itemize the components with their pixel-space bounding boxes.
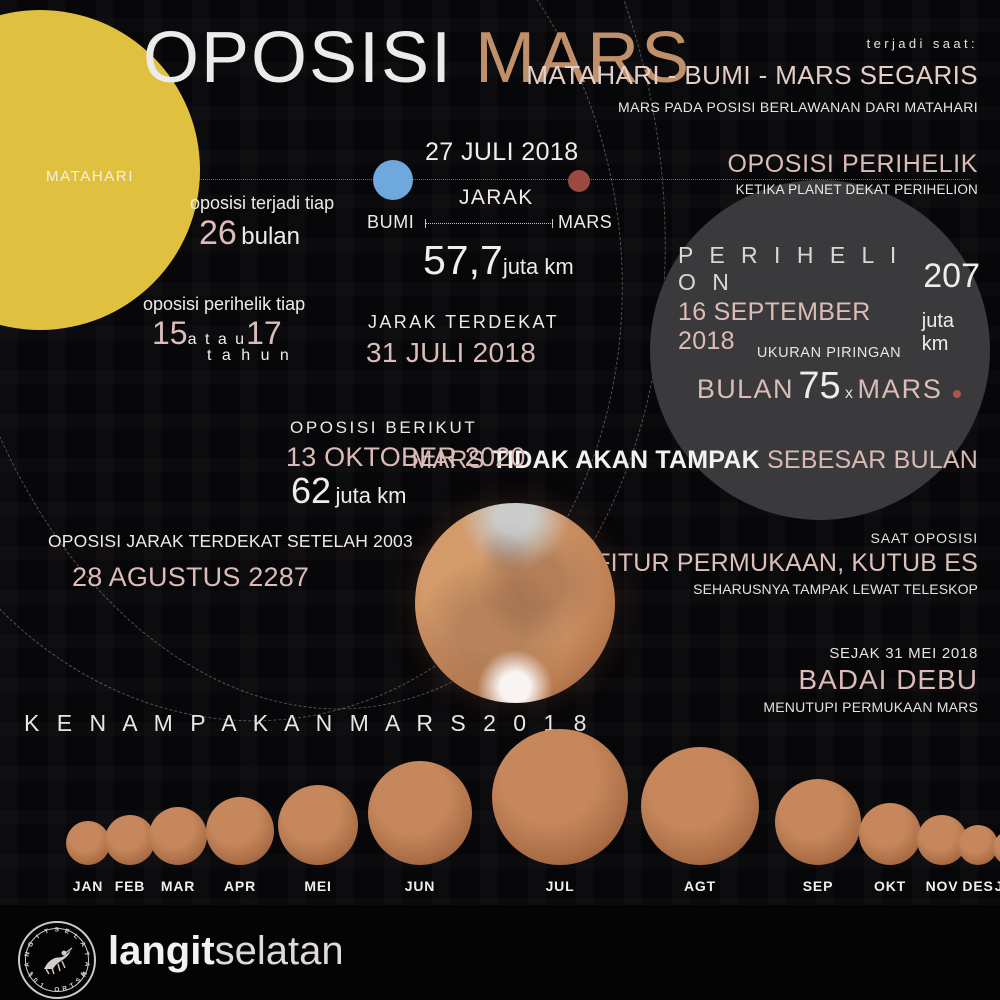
mars-month-label-5: JUN: [405, 878, 435, 894]
mars-planet-icon: [568, 170, 590, 192]
alignment-subtext: MARS PADA POSISI BERLAWANAN DARI MATAHAR…: [618, 99, 978, 115]
alignment-line: [160, 179, 970, 180]
logo-ring-char: T: [69, 982, 76, 990]
jarak-label: JARAK: [459, 186, 534, 210]
footer: LANGITSELATANASTRO 101 langitselatan KON…: [0, 905, 1000, 1000]
alignment-headline: MATAHARI - BUMI - MARS SEGARIS: [526, 60, 978, 91]
logo-ring-char: L: [72, 933, 80, 941]
mars-month-label-9: OKT: [874, 878, 906, 894]
distance-value-block: 57,7juta km: [423, 237, 574, 284]
terjadi-saat-eyebrow: terjadi saat:: [867, 36, 978, 51]
disk-size-mars: MARS: [858, 374, 943, 404]
brand-wordmark: langitselatan: [108, 931, 344, 971]
logo-ring-char: O: [54, 987, 59, 994]
logo-ring-char: S: [75, 977, 83, 985]
disk-size-comparison: BULAN 75 x MARS: [668, 365, 990, 408]
interval-perihelic-n2: 17: [246, 315, 282, 351]
measure-line: [425, 223, 553, 224]
closest-after-2003-label: OPOSISI JARAK TERDEKAT SETELAH 2003: [48, 531, 413, 552]
logo-ring-char: G: [27, 940, 36, 948]
dust-storm-line3: MENUTUPI PERMUKAAN MARS: [763, 699, 978, 715]
dust-storm-block: SEJAK 31 MEI 2018 BADAI DEBU MENUTUPI PE…: [763, 645, 978, 715]
mars-month-label-10: NOV: [926, 878, 959, 894]
distance-value: 57,7: [423, 237, 503, 283]
mars-month-label-11: DES: [962, 878, 993, 894]
logo-ring-char: A: [78, 941, 87, 949]
interval-perihelic-n1: 15: [152, 315, 188, 351]
infographic-canvas: MATAHARI OPOSISI MARS terjadi saat: MATA…: [0, 0, 1000, 1000]
next-opposition-date: 13 OKTOBER 2020: [286, 442, 526, 473]
title-part-oposisi: OPOSISI: [143, 18, 453, 98]
logo-ring-char: I: [35, 933, 41, 940]
distance-measure-bar: [425, 219, 553, 229]
logo-ring-char: S: [55, 927, 60, 934]
mars-disk-jun-5: [368, 761, 472, 865]
mars-size-sequence: [0, 760, 1000, 905]
perihelion-distance-number: 207: [923, 257, 980, 296]
mars-disk-mar-2: [149, 807, 207, 865]
mars-month-label-6: JUL: [546, 878, 575, 894]
surface-line2: FITUR PERMUKAAN, KUTUB ES: [595, 549, 978, 578]
mars-photo-disk: [415, 503, 615, 703]
next-opposition-value: 62: [291, 470, 331, 511]
dust-storm-line1: SEJAK 31 MEI 2018: [763, 645, 978, 662]
disk-size-moon: BULAN: [697, 374, 794, 404]
measure-cap-right: [552, 219, 553, 228]
mars-disk-feb-1: [105, 815, 155, 865]
interval-months-unit: bulan: [241, 223, 300, 250]
logo-ring-char: A: [23, 961, 31, 967]
logo-ring-char: T: [44, 928, 50, 936]
mars-month-label-3: APR: [224, 878, 256, 894]
interval-perihelic-caption: oposisi perihelik tiap: [143, 294, 305, 315]
disk-size-factor: 75: [798, 365, 840, 407]
mars-disk-mei-4: [278, 785, 358, 865]
brand-light: selatan: [215, 929, 344, 973]
interval-perihelic-unit: t a h u n: [207, 347, 292, 365]
opposition-date: 27 JULI 2018: [425, 138, 579, 167]
logo-ring-char: A: [79, 970, 88, 978]
logo-ring-char: 0: [31, 977, 39, 985]
interval-months-number: 26: [199, 214, 237, 252]
measure-cap-left: [425, 219, 426, 228]
mars-disk-jul-6: [492, 729, 628, 865]
dust-storm-line2: BADAI DEBU: [763, 664, 978, 696]
surface-line1: SAAT OPOSISI: [595, 530, 978, 546]
logo-ring-char: 1: [38, 982, 45, 990]
appearance-title: K E N A M P A K A N M A R S 2 0 1 8: [24, 710, 592, 737]
distance-unit: juta km: [503, 254, 574, 279]
earth-label: BUMI: [367, 212, 414, 233]
perihelion-label: P E R I H E L I O N: [678, 242, 909, 296]
next-opposition-label: OPOSISI BERIKUT: [290, 418, 477, 438]
surface-line3: SEHARUSNYA TAMPAK LEWAT TELESKOP: [595, 581, 978, 597]
mars-month-label-2: MAR: [161, 878, 195, 894]
interval-months-value: 26 bulan: [199, 214, 300, 253]
logo-ring-char: E: [64, 928, 71, 936]
mars-month-label-12: JAN: [995, 878, 1000, 894]
oposisi-perihelik-title: OPOSISI PERIHELIK: [727, 150, 978, 179]
mars-month-label-1: FEB: [115, 878, 145, 894]
mars-month-label-7: AGT: [684, 878, 716, 894]
disk-size-times: x: [845, 385, 853, 402]
centaur-icon: [40, 945, 74, 975]
not-as-big-bold: TIDAK AKAN TAMPAK: [492, 446, 760, 474]
not-as-big-post: SEBESAR BULAN: [760, 446, 978, 474]
mars-disk-okt-9: [859, 803, 921, 865]
interval-months-caption: oposisi terjadi tiap: [190, 193, 334, 214]
disk-size-caption: UKURAN PIRINGAN: [678, 345, 980, 361]
logo-ring-char: N: [24, 951, 32, 957]
closest-label: JARAK TERDEKAT: [368, 312, 559, 333]
logo-ring-char: A: [83, 961, 91, 967]
mars-disk-des-11: [958, 825, 998, 865]
interval-perihelic-mid: a t a u: [188, 331, 246, 348]
sun-label: MATAHARI: [46, 168, 134, 185]
next-opposition-distance: 62 juta km: [291, 470, 406, 512]
earth-planet-icon: [373, 160, 413, 200]
mars-month-label-4: MEI: [304, 878, 331, 894]
brand-bold: langit: [108, 929, 215, 973]
logo-ring-char: R: [62, 985, 69, 993]
mars-disk-jan-0: [66, 821, 110, 865]
langitselatan-logo: LANGITSELATANASTRO 101: [18, 921, 96, 999]
mars-dot-icon: [953, 390, 961, 398]
closest-date: 31 JULI 2018: [366, 337, 536, 369]
closest-after-2003-date: 28 AGUSTUS 2287: [72, 562, 309, 593]
surface-features-block: SAAT OPOSISI FITUR PERMUKAAN, KUTUB ES S…: [595, 530, 978, 597]
mars-month-label-0: JAN: [73, 878, 103, 894]
mars-label: MARS: [558, 212, 612, 233]
logo-ring-char: T: [83, 951, 91, 957]
mars-month-label-8: SEP: [803, 878, 833, 894]
oposisi-perihelik-sub: KETIKA PLANET DEKAT PERIHELION: [736, 182, 978, 197]
perihelion-block: P E R I H E L I O N 207 16 SEPTEMBER 201…: [678, 242, 980, 356]
mars-disk-sep-8: [775, 779, 861, 865]
mars-disk-agt-7: [641, 747, 759, 865]
mars-disk-apr-3: [206, 797, 274, 865]
next-opposition-unit: juta km: [336, 483, 407, 508]
